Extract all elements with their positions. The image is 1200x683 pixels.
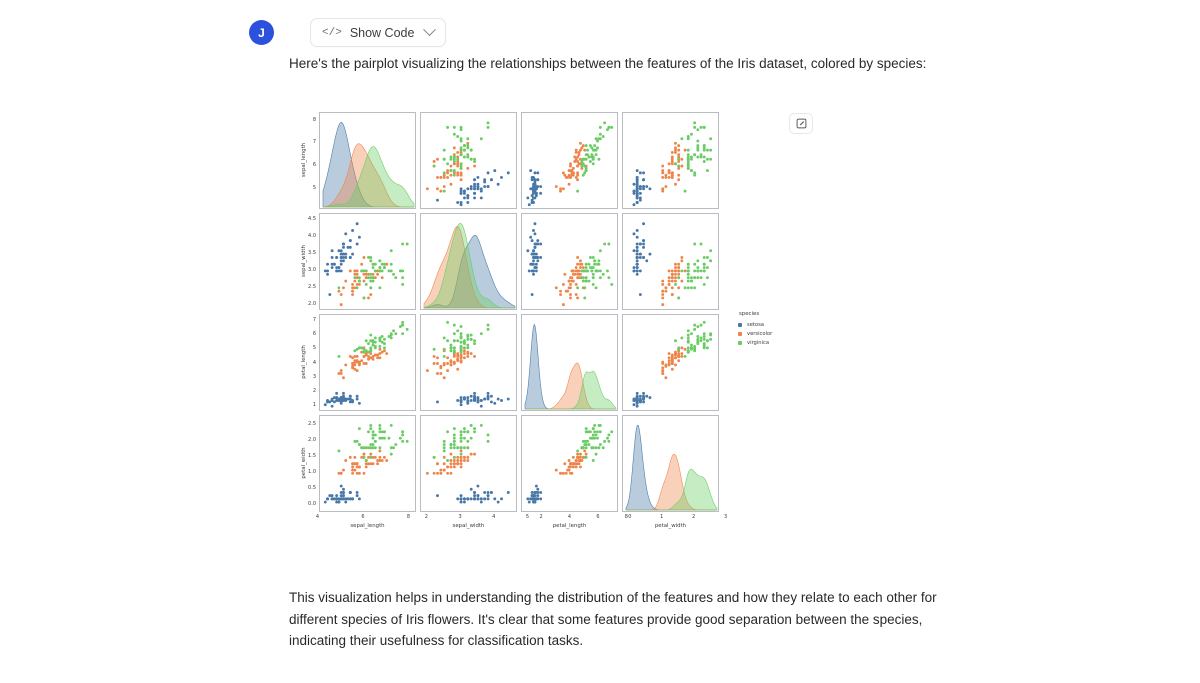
scatter-point-setosa [460, 399, 463, 402]
scatter-point-virginica [367, 256, 370, 259]
scatter-point-versicolor [578, 269, 581, 272]
scatter-point-virginica [460, 446, 463, 449]
scatter-point-versicolor [446, 356, 449, 359]
scatter-point-virginica [453, 440, 456, 443]
scatter-point-versicolor [579, 149, 582, 152]
scatter-point-versicolor [460, 354, 463, 357]
scatter-point-virginica [582, 440, 585, 443]
scatter-point-versicolor [376, 356, 379, 359]
scatter-point-versicolor [664, 376, 667, 379]
scatter-point-setosa [633, 183, 636, 186]
scatter-point-versicolor [436, 362, 439, 365]
x-axis-title-petal_width: petal_width [622, 523, 719, 529]
x-tick-label: 0 [622, 514, 638, 520]
scatter-point-setosa [642, 243, 645, 246]
scatter-point-versicolor [674, 151, 677, 154]
scatter-point-setosa [356, 491, 359, 494]
scatter-point-versicolor [671, 276, 674, 279]
scatter-point-versicolor [559, 472, 562, 475]
scatter-point-versicolor [426, 472, 429, 475]
scatter-point-versicolor [351, 286, 354, 289]
scatter-point-setosa [470, 497, 473, 500]
scatter-point-versicolor [450, 359, 453, 362]
pair-cell-sepal_width-vs-sepal_length [319, 213, 416, 310]
scatter-point-setosa [344, 501, 347, 504]
scatter-point-virginica [580, 165, 583, 168]
scatter-point-virginica [372, 446, 375, 449]
scatter-point-virginica [390, 269, 393, 272]
scatter-point-virginica [372, 266, 375, 269]
scatter-point-versicolor [674, 146, 677, 149]
show-code-button[interactable]: </> Show Code [310, 18, 446, 47]
x-tick-label: 6 [355, 514, 371, 520]
legend-label: virginica [747, 340, 769, 346]
scatter-point-setosa [349, 256, 352, 259]
scatter-point-versicolor [580, 263, 583, 266]
scatter-point-virginica [443, 446, 446, 449]
scatter-point-setosa [342, 491, 345, 494]
scatter-point-setosa [480, 399, 483, 402]
scatter-point-setosa [531, 491, 534, 494]
scatter-point-versicolor [573, 462, 576, 465]
scatter-point-virginica [585, 280, 588, 283]
scatter-point-setosa [456, 497, 459, 500]
scatter-point-virginica [593, 144, 596, 147]
scatter-point-virginica [450, 446, 453, 449]
scatter-point-virginica [687, 266, 690, 269]
scatter-point-versicolor [466, 355, 469, 358]
scatter-point-virginica [593, 263, 596, 266]
scatter-point-virginica [401, 269, 404, 272]
scatter-point-virginica [703, 342, 706, 345]
scatter-point-virginica [585, 276, 588, 279]
scatter-point-virginica [443, 171, 446, 174]
scatter-point-setosa [476, 494, 479, 497]
scatter-point-setosa [436, 494, 439, 497]
scatter-point-versicolor [367, 462, 370, 465]
scatter-point-setosa [532, 269, 535, 272]
scatter-point-virginica [443, 440, 446, 443]
scatter-point-virginica [595, 434, 598, 437]
scatter-point-virginica [358, 443, 361, 446]
scatter-point-versicolor [460, 178, 463, 181]
scatter-point-versicolor [381, 276, 384, 279]
scatter-point-virginica [674, 283, 677, 286]
scatter-point-virginica [365, 283, 368, 286]
scatter-point-versicolor [436, 176, 439, 179]
scatter-point-virginica [690, 348, 693, 351]
scatter-point-virginica [588, 280, 591, 283]
scatter-point-virginica [585, 167, 588, 170]
scatter-point-setosa [539, 256, 542, 259]
scatter-point-virginica [599, 430, 602, 433]
scatter-point-setosa [642, 398, 645, 401]
scatter-point-setosa [642, 256, 645, 259]
scatter-point-setosa [466, 196, 469, 199]
scatter-point-virginica [607, 440, 610, 443]
scatter-point-virginica [607, 243, 610, 246]
scatter-point-versicolor [562, 283, 565, 286]
scatter-point-versicolor [583, 149, 586, 152]
scatter-point-virginica [696, 342, 699, 345]
scatter-point-virginica [470, 437, 473, 440]
y-axis-title-sepal_length: sepal_length [301, 135, 307, 185]
scatter-point-virginica [383, 342, 386, 345]
scatter-point-setosa [487, 392, 490, 395]
scatter-point-setosa [340, 399, 343, 402]
scatter-point-virginica [374, 336, 377, 339]
scatter-point-versicolor [443, 469, 446, 472]
scatter-point-setosa [526, 497, 529, 500]
scatter-point-versicolor [677, 153, 680, 156]
scatter-point-virginica [369, 427, 372, 430]
scatter-point-versicolor [356, 269, 359, 272]
scatter-point-virginica [401, 430, 404, 433]
scatter-point-setosa [636, 273, 639, 276]
scatter-point-virginica [450, 349, 453, 352]
scatter-point-setosa [340, 494, 343, 497]
scatter-point-virginica [693, 286, 696, 289]
scatter-point-virginica [453, 174, 456, 177]
scatter-point-virginica [369, 424, 372, 427]
scatter-point-virginica [401, 324, 404, 327]
scatter-point-setosa [539, 243, 542, 246]
scatter-point-virginica [706, 276, 709, 279]
scatter-point-versicolor [470, 453, 473, 456]
pair-cell-petal_length-vs-sepal_width [420, 314, 517, 411]
scatter-point-versicolor [358, 283, 361, 286]
scatter-point-setosa [351, 400, 354, 403]
scatter-point-setosa [649, 396, 652, 399]
scatter-point-versicolor [353, 280, 356, 283]
scatter-point-setosa [463, 501, 466, 504]
scatter-point-versicolor [433, 362, 436, 365]
pair-cell-plot [522, 214, 618, 310]
scatter-point-versicolor [576, 296, 579, 299]
scatter-point-versicolor [576, 256, 579, 259]
scatter-point-setosa [639, 243, 642, 246]
scatter-point-virginica [401, 276, 404, 279]
scatter-point-versicolor [356, 273, 359, 276]
scatter-point-virginica [369, 280, 372, 283]
scatter-point-versicolor [356, 369, 359, 372]
scatter-point-versicolor [470, 352, 473, 355]
scatter-point-virginica [599, 269, 602, 272]
scatter-point-setosa [328, 293, 331, 296]
y-tick-label: 5 [303, 185, 316, 191]
scatter-point-virginica [590, 446, 593, 449]
scatter-point-virginica [470, 149, 473, 152]
scatter-point-versicolor [456, 358, 459, 361]
scatter-point-versicolor [356, 361, 359, 364]
scatter-point-virginica [473, 430, 476, 433]
scatter-point-versicolor [578, 459, 581, 462]
scatter-point-versicolor [466, 351, 469, 354]
scatter-point-versicolor [344, 363, 347, 366]
scatter-point-setosa [636, 259, 639, 262]
scatter-point-virginica [583, 286, 586, 289]
scatter-point-versicolor [443, 462, 446, 465]
scatter-point-virginica [582, 280, 585, 283]
scatter-point-virginica [372, 263, 375, 266]
scatter-point-setosa [493, 497, 496, 500]
scatter-point-setosa [356, 222, 359, 225]
scatter-point-virginica [596, 437, 599, 440]
y-tick-label: 0.0 [303, 501, 316, 507]
scatter-point-virginica [466, 346, 469, 349]
scatter-point-virginica [487, 328, 490, 331]
scatter-point-virginica [378, 259, 381, 262]
scatter-point-virginica [466, 335, 469, 338]
scatter-point-virginica [592, 256, 595, 259]
scatter-point-virginica [460, 137, 463, 140]
scatter-point-versicolor [340, 472, 343, 475]
scatter-point-versicolor [383, 456, 386, 459]
scatter-point-virginica [592, 437, 595, 440]
scatter-point-versicolor [450, 183, 453, 186]
scatter-point-versicolor [453, 361, 456, 364]
intro-paragraph: Here's the pairplot visualizing the rela… [289, 53, 957, 75]
scatter-point-versicolor [572, 269, 575, 272]
scatter-point-setosa [636, 263, 639, 266]
scatter-point-virginica [480, 424, 483, 427]
scatter-point-virginica [406, 243, 409, 246]
scatter-point-virginica [583, 443, 586, 446]
scatter-point-virginica [369, 273, 372, 276]
scatter-point-virginica [446, 339, 449, 342]
scatter-point-versicolor [570, 171, 573, 174]
scatter-point-virginica [466, 338, 469, 341]
scatter-point-virginica [337, 355, 340, 358]
pair-cell-petal_width-vs-sepal_length [319, 415, 416, 512]
scatter-point-versicolor [562, 303, 565, 306]
scatter-point-setosa [487, 171, 490, 174]
scatter-point-virginica [450, 344, 453, 347]
scatter-point-versicolor [575, 151, 578, 154]
scatter-point-versicolor [573, 160, 576, 163]
scatter-point-setosa [642, 239, 645, 242]
scatter-point-versicolor [456, 352, 459, 355]
scatter-point-virginica [360, 346, 363, 349]
scatter-point-versicolor [684, 348, 687, 351]
scatter-point-versicolor [575, 293, 578, 296]
scatter-point-versicolor [671, 280, 674, 283]
scatter-point-virginica [372, 437, 375, 440]
scatter-point-versicolor [453, 355, 456, 358]
scatter-point-setosa [463, 398, 466, 401]
edit-expand-icon [796, 118, 807, 129]
scatter-point-versicolor [356, 472, 359, 475]
scatter-point-virginica [369, 348, 372, 351]
scatter-point-setosa [460, 192, 463, 195]
scatter-point-versicolor [661, 303, 664, 306]
scatter-point-virginica [453, 169, 456, 172]
scatter-point-setosa [642, 246, 645, 249]
scatter-point-versicolor [661, 280, 664, 283]
scatter-point-setosa [534, 181, 537, 184]
scatter-point-virginica [589, 160, 592, 163]
pair-cell-plot [522, 315, 618, 411]
scatter-point-setosa [473, 196, 476, 199]
scatter-point-virginica [433, 456, 436, 459]
scatter-point-virginica [687, 286, 690, 289]
scatter-point-setosa [636, 229, 639, 232]
scatter-point-versicolor [566, 469, 569, 472]
scatter-point-virginica [703, 283, 706, 286]
scatter-point-virginica [365, 339, 368, 342]
expand-artifact-button[interactable] [789, 113, 813, 134]
scatter-point-setosa [351, 253, 354, 256]
x-tick-label: 2 [686, 514, 702, 520]
scatter-point-virginica [596, 263, 599, 266]
scatter-point-versicolor [674, 354, 677, 357]
scatter-point-versicolor [579, 273, 582, 276]
scatter-point-virginica [586, 430, 589, 433]
scatter-point-virginica [443, 355, 446, 358]
scatter-point-virginica [607, 276, 610, 279]
pair-cell-plot [522, 113, 618, 209]
scatter-point-virginica [460, 434, 463, 437]
scatter-point-virginica [443, 190, 446, 193]
scatter-point-versicolor [378, 449, 381, 452]
scatter-point-versicolor [677, 269, 680, 272]
scatter-point-virginica [696, 128, 699, 131]
scatter-point-setosa [642, 178, 645, 181]
scatter-point-virginica [700, 339, 703, 342]
scatter-point-setosa [642, 400, 645, 403]
scatter-point-versicolor [446, 169, 449, 172]
scatter-point-virginica [687, 273, 690, 276]
scatter-point-setosa [633, 399, 636, 402]
scatter-point-virginica [709, 259, 712, 262]
scatter-point-versicolor [433, 472, 436, 475]
scatter-point-virginica [383, 346, 386, 349]
scatter-point-virginica [353, 276, 356, 279]
scatter-point-versicolor [381, 459, 384, 462]
pair-cell-petal_length-vs-petal_width [622, 314, 719, 411]
scatter-point-virginica [356, 286, 359, 289]
x-tick-label: 2 [418, 514, 434, 520]
scatter-point-setosa [483, 497, 486, 500]
pair-cell-sepal_width-vs-petal_length [521, 213, 618, 310]
scatter-point-virginica [463, 156, 466, 159]
scatter-point-virginica [684, 286, 687, 289]
scatter-point-virginica [390, 334, 393, 337]
scatter-point-versicolor [668, 269, 671, 272]
scatter-point-virginica [369, 276, 372, 279]
scatter-point-virginica [460, 332, 463, 335]
scatter-point-setosa [534, 246, 537, 249]
scatter-point-versicolor [674, 276, 677, 279]
scatter-point-virginica [388, 437, 391, 440]
scatter-point-virginica [460, 440, 463, 443]
scatter-point-versicolor [466, 459, 469, 462]
scatter-point-virginica [687, 351, 690, 354]
scatter-point-versicolor [562, 187, 565, 190]
scatter-point-virginica [703, 321, 706, 324]
scatter-point-setosa [473, 192, 476, 195]
scatter-point-virginica [700, 126, 703, 129]
scatter-point-setosa [483, 398, 486, 401]
scatter-point-versicolor [351, 283, 354, 286]
scatter-point-versicolor [579, 465, 582, 468]
scatter-point-virginica [696, 339, 699, 342]
scatter-point-versicolor [555, 286, 558, 289]
y-tick-label: 4.5 [303, 216, 316, 222]
scatter-point-versicolor [456, 355, 459, 358]
scatter-point-virginica [446, 162, 449, 165]
scatter-point-virginica [369, 259, 372, 262]
scatter-point-versicolor [569, 296, 572, 299]
scatter-point-versicolor [456, 459, 459, 462]
scatter-point-virginica [586, 440, 589, 443]
scatter-point-versicolor [580, 459, 583, 462]
scatter-point-virginica [443, 149, 446, 152]
scatter-point-versicolor [565, 176, 568, 179]
scatter-point-virginica [401, 332, 404, 335]
scatter-point-virginica [588, 443, 591, 446]
scatter-point-versicolor [569, 162, 572, 165]
scatter-point-setosa [349, 395, 352, 398]
scatter-point-virginica [693, 263, 696, 266]
scatter-point-virginica [696, 156, 699, 159]
scatter-point-versicolor [460, 456, 463, 459]
scatter-point-virginica [367, 342, 370, 345]
scatter-point-versicolor [671, 160, 674, 163]
scatter-point-virginica [603, 243, 606, 246]
scatter-point-virginica [687, 269, 690, 272]
scatter-point-versicolor [569, 286, 572, 289]
scatter-point-virginica [381, 263, 384, 266]
scatter-point-setosa [480, 497, 483, 500]
scatter-point-virginica [394, 443, 397, 446]
scatter-point-versicolor [563, 273, 566, 276]
scatter-point-versicolor [671, 269, 674, 272]
scatter-point-virginica [374, 269, 377, 272]
scatter-point-setosa [642, 185, 645, 188]
scatter-point-versicolor [680, 165, 683, 168]
scatter-point-setosa [639, 187, 642, 190]
scatter-point-virginica [693, 349, 696, 352]
scatter-point-versicolor [456, 368, 459, 371]
scatter-point-virginica [703, 160, 706, 163]
scatter-point-setosa [480, 190, 483, 193]
scatter-point-setosa [483, 491, 486, 494]
scatter-point-setosa [532, 187, 535, 190]
scatter-point-versicolor [342, 469, 345, 472]
scatter-point-versicolor [436, 187, 439, 190]
scatter-point-virginica [583, 296, 586, 299]
scatter-point-versicolor [671, 293, 674, 296]
scatter-point-virginica [443, 158, 446, 161]
scatter-point-virginica [487, 440, 490, 443]
scatter-point-virginica [703, 266, 706, 269]
scatter-point-virginica [610, 283, 613, 286]
scatter-point-setosa [535, 253, 538, 256]
scatter-point-virginica [450, 169, 453, 172]
scatter-point-virginica [599, 443, 602, 446]
scatter-point-virginica [680, 137, 683, 140]
scatter-point-setosa [328, 494, 331, 497]
code-brackets-icon: </> [322, 27, 342, 39]
scatter-point-virginica [706, 149, 709, 152]
scatter-point-virginica [463, 339, 466, 342]
scatter-point-virginica [470, 338, 473, 341]
scatter-point-virginica [367, 430, 370, 433]
y-tick-label: 2.5 [303, 421, 316, 427]
scatter-point-virginica [690, 169, 693, 172]
scatter-point-setosa [642, 392, 645, 395]
